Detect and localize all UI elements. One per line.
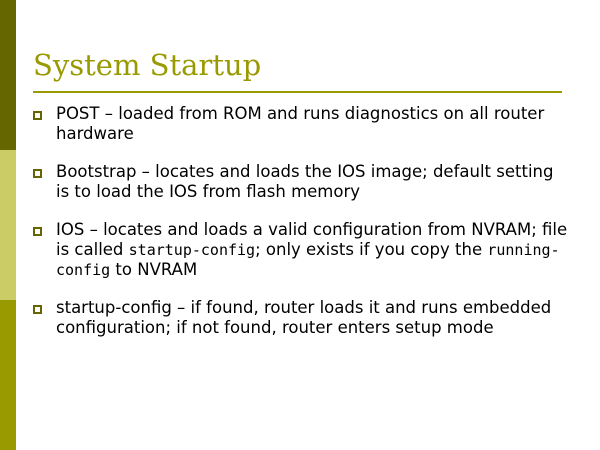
bullet-text-4: startup-config – if found, router loads … — [56, 298, 568, 338]
title-underline-rule — [33, 91, 562, 93]
list-item: POST – loaded from ROM and runs diagnost… — [33, 104, 568, 144]
list-item: Bootstrap – locates and loads the IOS im… — [33, 162, 568, 202]
bullet-text-1: POST – loaded from ROM and runs diagnost… — [56, 104, 568, 144]
sidebar-segment-bottom — [0, 300, 16, 450]
bullet-text-2: Bootstrap – locates and loads the IOS im… — [56, 162, 568, 202]
bullet-text-3: IOS – locates and loads a valid configur… — [56, 220, 568, 280]
presentation-slide: System Startup POST – loaded from ROM an… — [0, 0, 600, 450]
sidebar-segment-top — [0, 0, 16, 150]
hollow-square-bullet-icon — [33, 227, 42, 236]
list-item: IOS – locates and loads a valid configur… — [33, 220, 568, 280]
slide-sidebar-decoration — [0, 0, 16, 450]
sidebar-segment-middle — [0, 150, 16, 300]
bullet-list: POST – loaded from ROM and runs diagnost… — [33, 104, 568, 338]
slide-title: System Startup — [33, 47, 563, 83]
hollow-square-bullet-icon — [33, 169, 42, 178]
hollow-square-bullet-icon — [33, 111, 42, 120]
list-item: startup-config – if found, router loads … — [33, 298, 568, 338]
hollow-square-bullet-icon — [33, 305, 42, 314]
